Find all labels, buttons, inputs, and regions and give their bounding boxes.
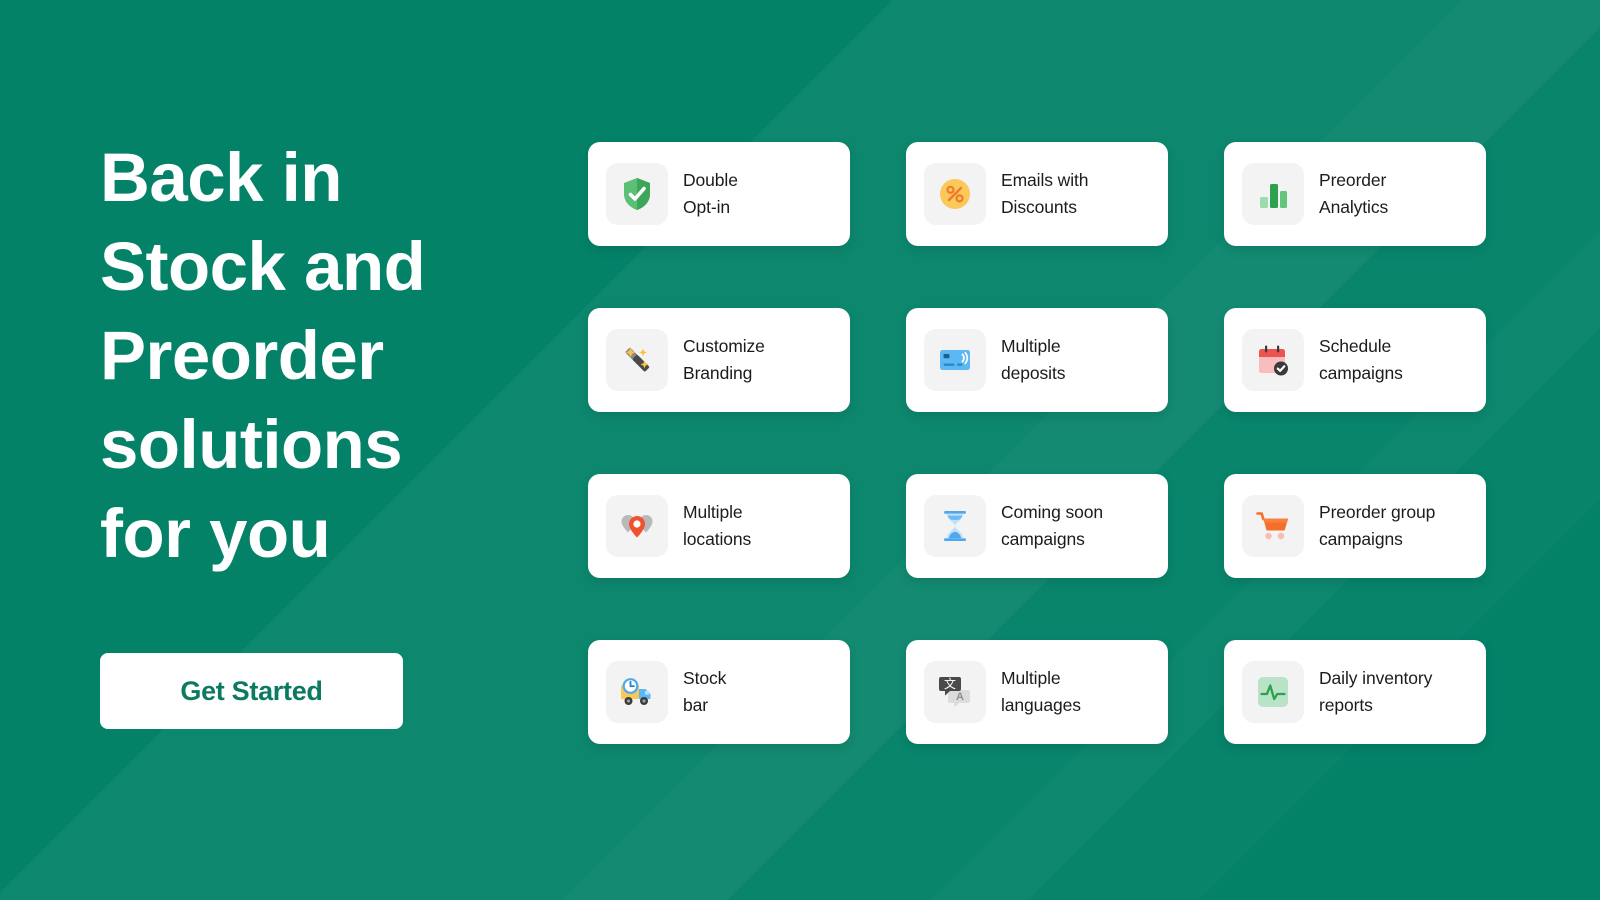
credit-card-icon <box>924 329 986 391</box>
feature-label: Daily inventory reports <box>1319 665 1432 719</box>
feature-label: Multiple deposits <box>1001 333 1065 387</box>
feature-card-emails-with-discounts[interactable]: Emails with Discounts <box>906 142 1168 246</box>
hero-section: Back in Stock and Preorder solutions for… <box>0 0 1600 900</box>
translate-bubbles-icon: A 文 <box>924 661 986 723</box>
feature-card-preorder-group-campaigns[interactable]: Preorder group campaigns <box>1224 474 1486 578</box>
feature-card-customize-branding[interactable]: Customize Branding <box>588 308 850 412</box>
hero-text-column: Back in Stock and Preorder solutions for… <box>100 133 560 578</box>
feature-card-stock-bar[interactable]: Stock bar <box>588 640 850 744</box>
shield-check-icon <box>606 163 668 225</box>
svg-text:文: 文 <box>944 676 956 691</box>
feature-card-multiple-languages[interactable]: A 文 Multiple languages <box>906 640 1168 744</box>
feature-card-coming-soon-campaigns[interactable]: Coming soon campaigns <box>906 474 1168 578</box>
feature-card-multiple-locations[interactable]: Multiple locations <box>588 474 850 578</box>
calendar-check-icon <box>1242 329 1304 391</box>
feature-label: Customize Branding <box>683 333 765 387</box>
delivery-truck-clock-icon <box>606 661 668 723</box>
feature-label: Emails with Discounts <box>1001 167 1088 221</box>
feature-card-daily-inventory-reports[interactable]: Daily inventory reports <box>1224 640 1486 744</box>
page-title: Back in Stock and Preorder solutions for… <box>100 133 560 578</box>
pulse-chart-icon <box>1242 661 1304 723</box>
feature-label: Double Opt-in <box>683 167 738 221</box>
shopping-cart-icon <box>1242 495 1304 557</box>
hourglass-icon <box>924 495 986 557</box>
percent-circle-icon <box>924 163 986 225</box>
map-pins-icon <box>606 495 668 557</box>
feature-card-preorder-analytics[interactable]: Preorder Analytics <box>1224 142 1486 246</box>
feature-label: Multiple languages <box>1001 665 1081 719</box>
feature-label: Schedule campaigns <box>1319 333 1403 387</box>
feature-label: Preorder group campaigns <box>1319 499 1435 553</box>
feature-card-schedule-campaigns[interactable]: Schedule campaigns <box>1224 308 1486 412</box>
magic-wand-icon <box>606 329 668 391</box>
feature-label: Preorder Analytics <box>1319 167 1388 221</box>
features-grid: Double Opt-in Emails with Discounts <box>588 142 1486 744</box>
feature-card-double-opt-in[interactable]: Double Opt-in <box>588 142 850 246</box>
feature-card-multiple-deposits[interactable]: Multiple deposits <box>906 308 1168 412</box>
bar-chart-icon <box>1242 163 1304 225</box>
get-started-button[interactable]: Get Started <box>100 653 403 729</box>
feature-label: Coming soon campaigns <box>1001 499 1103 553</box>
svg-text:A: A <box>956 691 964 703</box>
feature-label: Stock bar <box>683 665 726 719</box>
feature-label: Multiple locations <box>683 499 751 553</box>
